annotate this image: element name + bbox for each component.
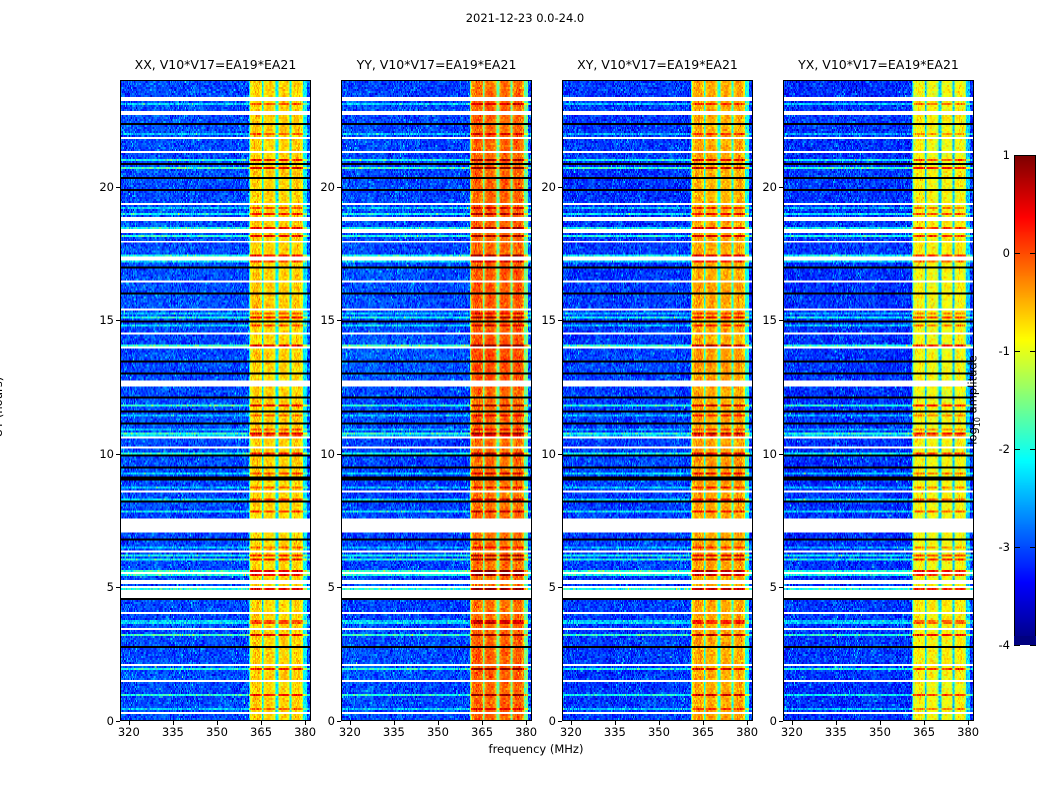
figure-canvas: 2021-12-23 0.0-24.0 XX, V10*V17=EA19*EA2… [0, 0, 1050, 800]
x-tick-label: 320 [560, 725, 582, 739]
y-tick-label: 5 [757, 580, 777, 594]
x-tick-mark [880, 721, 881, 725]
panel-yy[interactable]: YY, V10*V17=EA19*EA21 [341, 80, 532, 721]
colorbar-tick-mark [1030, 155, 1036, 156]
x-tick-label: 365 [250, 725, 272, 739]
x-tick-mark [217, 721, 218, 725]
y-tick-label: 20 [757, 180, 777, 194]
colorbar-tick-mark [1014, 253, 1020, 254]
colorbar-tick-mark [1030, 645, 1036, 646]
y-tick-mark [337, 587, 341, 588]
y-tick-label: 10 [94, 447, 114, 461]
colorbar-tick-mark [1014, 547, 1020, 548]
panel-title-xy: XY, V10*V17=EA19*EA21 [562, 57, 753, 72]
colorbar-tick-label: -3 [986, 540, 1010, 554]
y-tick-mark [116, 721, 120, 722]
y-tick-mark [558, 587, 562, 588]
x-tick-mark [173, 721, 174, 725]
x-tick-label: 365 [913, 725, 935, 739]
y-tick-mark [558, 454, 562, 455]
y-tick-label: 0 [94, 714, 114, 728]
x-tick-label: 365 [692, 725, 714, 739]
x-tick-label: 380 [957, 725, 979, 739]
x-tick-label: 335 [604, 725, 626, 739]
x-tick-mark [129, 721, 130, 725]
colorbar-tick-mark [1014, 449, 1020, 450]
spectrogram-xy[interactable] [562, 80, 753, 721]
x-tick-mark [924, 721, 925, 725]
y-tick-label: 0 [315, 714, 335, 728]
spectrogram-yx[interactable] [783, 80, 974, 721]
y-tick-mark [779, 721, 783, 722]
x-tick-mark [836, 721, 837, 725]
colorbar-tick-mark [1014, 645, 1020, 646]
colorbar-tick-mark [1030, 449, 1036, 450]
x-tick-mark [703, 721, 704, 725]
y-tick-mark [558, 721, 562, 722]
y-tick-label: 15 [94, 313, 114, 327]
panel-title-xx: XX, V10*V17=EA19*EA21 [120, 57, 311, 72]
y-tick-mark [779, 187, 783, 188]
colorbar-tick-label: 1 [986, 148, 1010, 162]
y-tick-label: 5 [94, 580, 114, 594]
x-tick-label: 335 [162, 725, 184, 739]
y-tick-label: 15 [757, 313, 777, 327]
y-tick-mark [779, 587, 783, 588]
x-tick-mark [261, 721, 262, 725]
x-tick-label: 350 [206, 725, 228, 739]
x-tick-mark [792, 721, 793, 725]
y-tick-mark [116, 587, 120, 588]
colorbar-tick-label: -4 [986, 638, 1010, 652]
y-tick-label: 20 [315, 180, 335, 194]
colorbar-tick-label: -2 [986, 442, 1010, 456]
x-tick-mark [747, 721, 748, 725]
x-tick-label: 365 [471, 725, 493, 739]
x-tick-mark [615, 721, 616, 725]
spectrogram-xx[interactable] [120, 80, 311, 721]
colorbar-under-extend [1014, 636, 1036, 645]
colorbar-tick-mark [1030, 351, 1036, 352]
y-tick-mark [779, 320, 783, 321]
x-tick-mark [438, 721, 439, 725]
colorbar-label: log10 amplitude [966, 355, 982, 445]
x-tick-mark [571, 721, 572, 725]
spectrogram-yy[interactable] [341, 80, 532, 721]
y-tick-label: 5 [315, 580, 335, 594]
x-tick-label: 380 [294, 725, 316, 739]
panel-title-yx: YX, V10*V17=EA19*EA21 [783, 57, 974, 72]
y-tick-label: 15 [315, 313, 335, 327]
panel-title-yy: YY, V10*V17=EA19*EA21 [341, 57, 532, 72]
colorbar-tick-mark [1030, 253, 1036, 254]
y-tick-label: 10 [757, 447, 777, 461]
y-tick-label: 15 [536, 313, 556, 327]
x-axis-label: frequency (MHz) [120, 742, 952, 756]
y-tick-label: 0 [757, 714, 777, 728]
x-tick-mark [659, 721, 660, 725]
y-tick-mark [337, 320, 341, 321]
y-tick-label: 10 [315, 447, 335, 461]
x-tick-label: 350 [427, 725, 449, 739]
y-tick-label: 20 [94, 180, 114, 194]
y-tick-mark [558, 187, 562, 188]
x-tick-label: 320 [118, 725, 140, 739]
panel-xx[interactable]: XX, V10*V17=EA19*EA21 [120, 80, 311, 721]
colorbar-tick-mark [1014, 155, 1020, 156]
y-tick-label: 10 [536, 447, 556, 461]
colorbar[interactable] [1014, 155, 1036, 645]
x-tick-mark [526, 721, 527, 725]
x-tick-mark [394, 721, 395, 725]
x-tick-label: 380 [736, 725, 758, 739]
x-tick-label: 320 [339, 725, 361, 739]
x-tick-mark [482, 721, 483, 725]
x-tick-label: 380 [515, 725, 537, 739]
y-tick-mark [558, 320, 562, 321]
y-tick-label: 0 [536, 714, 556, 728]
colorbar-tick-mark [1030, 547, 1036, 548]
colorbar-tick-label: 0 [986, 246, 1010, 260]
y-tick-mark [116, 187, 120, 188]
panel-xy[interactable]: XY, V10*V17=EA19*EA21 [562, 80, 753, 721]
figure-suptitle: 2021-12-23 0.0-24.0 [0, 11, 1050, 25]
x-tick-label: 335 [825, 725, 847, 739]
y-tick-mark [337, 454, 341, 455]
x-tick-label: 320 [781, 725, 803, 739]
y-tick-label: 20 [536, 180, 556, 194]
y-tick-mark [337, 721, 341, 722]
colorbar-tick-mark [1014, 351, 1020, 352]
panel-yx[interactable]: YX, V10*V17=EA19*EA21 [783, 80, 974, 721]
y-tick-mark [337, 187, 341, 188]
x-tick-label: 335 [383, 725, 405, 739]
x-tick-mark [305, 721, 306, 725]
x-tick-mark [350, 721, 351, 725]
y-axis-label: UT (hours) [0, 377, 5, 437]
colorbar-tick-label: -1 [986, 344, 1010, 358]
y-tick-label: 5 [536, 580, 556, 594]
y-tick-mark [116, 454, 120, 455]
x-tick-mark [968, 721, 969, 725]
y-tick-mark [116, 320, 120, 321]
y-tick-mark [779, 454, 783, 455]
x-tick-label: 350 [648, 725, 670, 739]
x-tick-label: 350 [869, 725, 891, 739]
